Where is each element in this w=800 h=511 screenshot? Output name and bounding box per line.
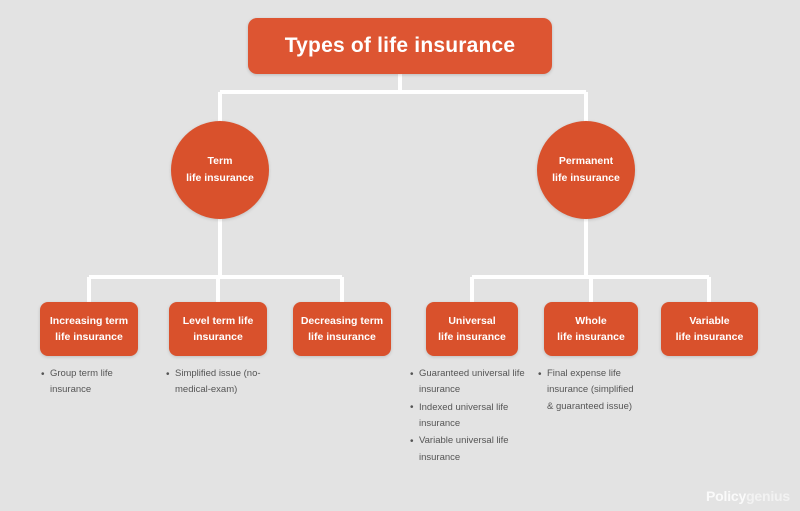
node-whole-label-line1: Whole xyxy=(575,315,607,327)
node-permanent-life-insurance: Permanent life insurance xyxy=(537,121,635,219)
node-increasing-term-label-line2: life insurance xyxy=(55,331,123,343)
node-term-label: Term life insurance xyxy=(182,153,258,187)
node-level-term-life-insurance: Level term life insurance xyxy=(169,302,267,356)
node-whole-label: Whole life insurance xyxy=(551,313,631,346)
node-variable-life-insurance: Variable life insurance xyxy=(661,302,758,356)
node-decreasing-term-label-line2: life insurance xyxy=(308,331,376,343)
diagram-canvas: Types of life insurance Term life insura… xyxy=(0,0,800,511)
node-decreasing-term-label-line1: Decreasing term xyxy=(301,315,383,327)
node-term-label-line2: life insurance xyxy=(186,172,254,184)
watermark-part1: Policy xyxy=(706,488,746,504)
list-item: Final expense life insurance (simplified… xyxy=(538,366,642,415)
node-root-title: Types of life insurance xyxy=(248,18,552,74)
node-universal-life-insurance: Universal life insurance xyxy=(426,302,518,356)
node-term-label-line1: Term xyxy=(208,155,233,167)
node-increasing-term-label-line1: Increasing term xyxy=(50,315,128,327)
list-item: Indexed universal life insurance xyxy=(410,400,540,433)
node-permanent-label-line1: Permanent xyxy=(559,155,613,167)
node-decreasing-term-label: Decreasing term life insurance xyxy=(295,313,389,346)
node-increasing-term-life-insurance: Increasing term life insurance xyxy=(40,302,138,356)
root-title-label: Types of life insurance xyxy=(285,33,516,58)
list-item: Group term life insurance xyxy=(41,366,141,399)
node-permanent-label: Permanent life insurance xyxy=(548,153,624,187)
watermark-policygenius: Policygenius xyxy=(706,488,790,504)
node-variable-label-line2: life insurance xyxy=(676,331,744,343)
node-universal-label: Universal life insurance xyxy=(432,313,512,346)
node-level-term-label: Level term life insurance xyxy=(177,313,260,346)
node-universal-label-line1: Universal xyxy=(448,315,495,327)
node-universal-label-line2: life insurance xyxy=(438,331,506,343)
list-item: Guaranteed universal life insurance xyxy=(410,366,540,399)
node-term-life-insurance: Term life insurance xyxy=(171,121,269,219)
connector-lines xyxy=(0,0,800,511)
node-increasing-term-label: Increasing term life insurance xyxy=(44,313,134,346)
bullets-universal: Guaranteed universal life insurance Inde… xyxy=(410,366,540,467)
list-item: Simplified issue (no-medical-exam) xyxy=(166,366,270,399)
list-item: Variable universal life insurance xyxy=(410,433,540,466)
node-permanent-label-line2: life insurance xyxy=(552,172,620,184)
node-variable-label: Variable life insurance xyxy=(670,313,750,346)
node-level-term-label-line1: Level term life xyxy=(183,315,254,327)
watermark-part2: genius xyxy=(746,488,790,504)
node-whole-label-line2: life insurance xyxy=(557,331,625,343)
node-decreasing-term-life-insurance: Decreasing term life insurance xyxy=(293,302,391,356)
bullets-increasing-term: Group term life insurance xyxy=(41,366,141,400)
node-level-term-label-line2: insurance xyxy=(193,331,243,343)
node-whole-life-insurance: Whole life insurance xyxy=(544,302,638,356)
bullets-level-term: Simplified issue (no-medical-exam) xyxy=(166,366,270,400)
node-variable-label-line1: Variable xyxy=(689,315,729,327)
bullets-whole-life: Final expense life insurance (simplified… xyxy=(538,366,642,416)
